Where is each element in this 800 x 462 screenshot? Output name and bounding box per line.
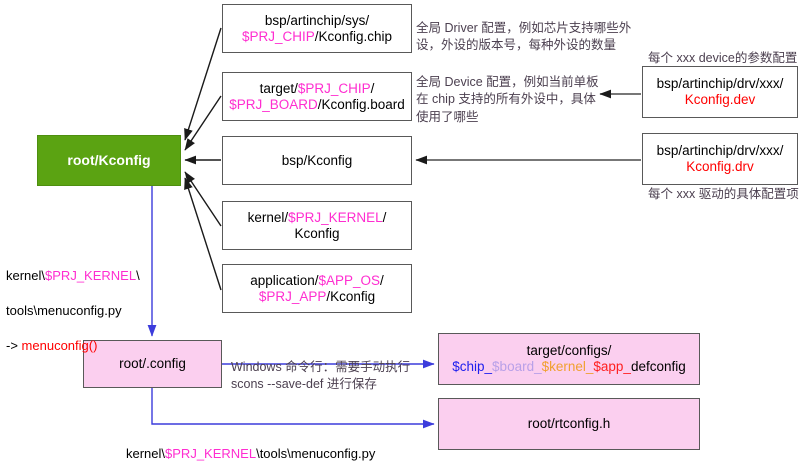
defconfig-seg-tail: defconfig	[631, 359, 686, 374]
node-kconfig-dev[interactable]: bsp/artinchip/drv/xxx/ Kconfig.dev	[642, 66, 798, 118]
node-root-kconfig[interactable]: root/Kconfig	[37, 135, 181, 186]
node-defconfig-label: target/configs/ $chip_$board_$kernel_$ap…	[439, 343, 699, 375]
annotation-driver-config: 全局 Driver 配置，例如芯片支持哪些外 设，外设的版本号，每种外设的数量	[416, 20, 646, 55]
note-menuconfig-fn: menuconfig()	[22, 338, 98, 353]
kconfig-chip-line2: /Kconfig.chip	[315, 29, 392, 44]
note-mkrt-line1-tail: \tools\menuconfig.py	[256, 446, 375, 461]
note-menuconfig-line1: kernel\	[6, 268, 45, 283]
annotation-windows-cmd: Windows 命令行：需要手动执行 scons --save-def 进行保存	[231, 359, 441, 394]
node-root-kconfig-label: root/Kconfig	[38, 152, 180, 169]
kconfig-kernel-line1: kernel/	[248, 210, 289, 225]
note-menuconfig-line1-tail: \	[136, 268, 140, 283]
arrow-board-to-root	[185, 96, 221, 150]
kconfig-kernel-line2: Kconfig	[226, 226, 408, 242]
kconfig-board-line2: /Kconfig.board	[318, 97, 405, 112]
node-kconfig-kernel-label: kernel/$PRJ_KERNEL/ Kconfig	[223, 210, 411, 242]
node-kconfig-chip-label: bsp/artinchip/sys/ $PRJ_CHIP/Kconfig.chi…	[223, 13, 411, 45]
defconfig-line1: target/configs/	[442, 343, 696, 359]
kconfig-dev-line1: bsp/artinchip/drv/xxx/	[646, 76, 794, 92]
kconfig-drv-line2: Kconfig.drv	[646, 159, 794, 175]
node-defconfig[interactable]: target/configs/ $chip_$board_$kernel_$ap…	[438, 333, 700, 385]
node-kconfig-board[interactable]: target/$PRJ_CHIP/ $PRJ_BOARD/Kconfig.boa…	[222, 72, 412, 121]
annotation-drv-param: 每个 xxx 驱动的具体配置项	[648, 186, 800, 203]
kconfig-drv-line1: bsp/artinchip/drv/xxx/	[646, 143, 794, 159]
node-kconfig-kernel[interactable]: kernel/$PRJ_KERNEL/ Kconfig	[222, 201, 412, 250]
defconfig-seg-chip: $chip_	[452, 359, 492, 374]
kconfig-app-line1-tail: /	[380, 273, 384, 288]
node-kconfig-board-label: target/$PRJ_CHIP/ $PRJ_BOARD/Kconfig.boa…	[223, 81, 411, 113]
node-rtconfig-label: root/rtconfig.h	[439, 416, 699, 432]
node-kconfig-drv-label: bsp/artinchip/drv/xxx/ Kconfig.drv	[643, 143, 797, 175]
kconfig-app-line2-tail: /Kconfig	[326, 289, 375, 304]
node-kconfig-bsp[interactable]: bsp/Kconfig	[222, 136, 412, 185]
kconfig-app-var2: $PRJ_APP	[259, 289, 327, 304]
note-mk-rtconfig: kernel\$PRJ_KERNEL\tools\menuconfig.py -…	[126, 427, 456, 462]
note-mkrt-line1: kernel\	[126, 446, 165, 461]
arrow-kernel-to-root	[185, 172, 221, 226]
kconfig-chip-var: $PRJ_CHIP	[242, 29, 315, 44]
kconfig-board-var1: $PRJ_CHIP	[298, 81, 371, 96]
node-rtconfig[interactable]: root/rtconfig.h	[438, 398, 700, 450]
defconfig-seg-board: $board_	[492, 359, 542, 374]
note-menuconfig-arrow: ->	[6, 338, 22, 353]
note-mkrt-var: $PRJ_KERNEL	[165, 446, 256, 461]
note-menuconfig-line2: tools\menuconfig.py	[6, 302, 196, 320]
node-kconfig-drv[interactable]: bsp/artinchip/drv/xxx/ Kconfig.drv	[642, 133, 798, 185]
note-menuconfig-var: $PRJ_KERNEL	[45, 268, 136, 283]
node-kconfig-app[interactable]: application/$APP_OS/ $PRJ_APP/Kconfig	[222, 264, 412, 313]
node-kconfig-bsp-label: bsp/Kconfig	[223, 153, 411, 169]
kconfig-board-line1-tail: /	[371, 81, 375, 96]
annotation-device-config: 全局 Device 配置，例如当前单板 在 chip 支持的所有外设中，具体 使…	[416, 74, 616, 126]
defconfig-seg-kernel: $kernel_	[542, 359, 594, 374]
kconfig-app-line1: application/	[250, 273, 318, 288]
kconfig-board-var2: $PRJ_BOARD	[229, 97, 318, 112]
note-menuconfig: kernel\$PRJ_KERNEL\ tools\menuconfig.py …	[6, 249, 196, 372]
kconfig-chip-line1: bsp/artinchip/sys/	[226, 13, 408, 29]
kconfig-app-var1: $APP_OS	[319, 273, 381, 288]
node-kconfig-dev-label: bsp/artinchip/drv/xxx/ Kconfig.dev	[643, 76, 797, 108]
kconfig-dev-line2: Kconfig.dev	[646, 92, 794, 108]
node-kconfig-app-label: application/$APP_OS/ $PRJ_APP/Kconfig	[223, 273, 411, 305]
kconfig-board-line1: target/	[260, 81, 298, 96]
arrow-chip-to-root	[185, 28, 221, 140]
kconfig-kernel-var: $PRJ_KERNEL	[288, 210, 383, 225]
kconfig-kernel-line1-tail: /	[383, 210, 387, 225]
diagram-canvas: root/Kconfig bsp/artinchip/sys/ $PRJ_CHI…	[0, 0, 800, 462]
node-kconfig-chip[interactable]: bsp/artinchip/sys/ $PRJ_CHIP/Kconfig.chi…	[222, 4, 412, 53]
defconfig-seg-app: $app_	[593, 359, 631, 374]
annotation-device-param: 每个 xxx device的参数配置	[648, 50, 800, 67]
